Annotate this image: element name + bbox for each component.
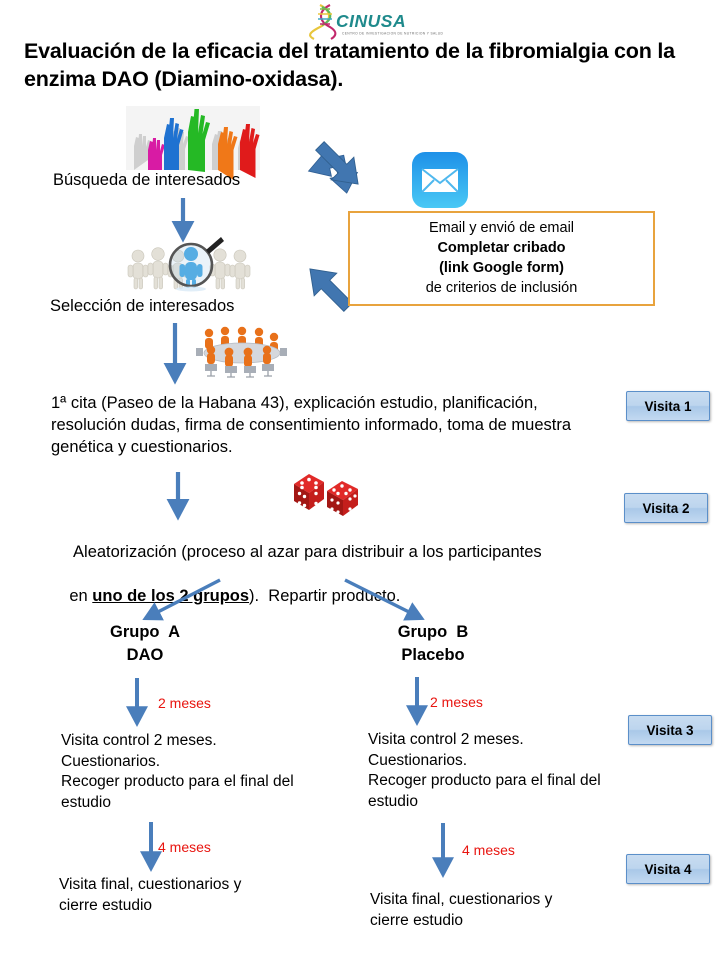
aleatorizacion-emphasis: uno de los 2 grupos <box>92 587 249 605</box>
cinusa-logo: CINUSA CENTRO DE INVESTIGACION DE NUTRIC… <box>306 2 414 40</box>
branch-b-interval-1: 2 meses <box>430 693 483 712</box>
badge-visita-1[interactable]: Visita 1 <box>626 391 710 421</box>
branch-a-interval-1: 2 meses <box>158 694 211 713</box>
email-box-line-3: (link Google form) <box>439 259 564 278</box>
logo-tagline: CENTRO DE INVESTIGACION DE NUTRICION Y S… <box>342 32 443 36</box>
meeting-table-image <box>196 326 288 378</box>
branch-b-final-text: Visita final, cuestionarios y cierre est… <box>370 890 650 931</box>
red-dice-image <box>289 470 369 518</box>
badge-visita-2[interactable]: Visita 2 <box>624 493 708 523</box>
badge-visita-3[interactable]: Visita 3 <box>628 715 712 745</box>
branch-a-final-text: Visita final, cuestionarios y cierre est… <box>59 875 349 916</box>
badge-visita-4[interactable]: Visita 4 <box>626 854 710 884</box>
raised-hands-image <box>126 106 260 170</box>
branch-a-interval-2: 4 meses <box>158 838 211 857</box>
branch-b-interval-2: 4 meses <box>462 841 515 860</box>
step-label-seleccion: Selección de interesados <box>50 296 234 318</box>
page-title: Evaluación de la eficacia del tratamient… <box>24 38 704 94</box>
email-box-line-4: de criterios de inclusión <box>426 279 578 298</box>
branch-a-visit-text: Visita control 2 meses. Cuestionarios. R… <box>61 731 351 813</box>
branch-b-visit-text: Visita control 2 meses. Cuestionarios. R… <box>368 730 648 812</box>
aleatorizacion-line-2-post: ). Repartir producto. <box>249 587 400 605</box>
chevron-arrow-to-email <box>305 135 369 200</box>
step-text-primera-cita: 1ª cita (Paseo de la Habana 43), explica… <box>51 393 611 459</box>
flowchart-page: CINUSA CENTRO DE INVESTIGACION DE NUTRIC… <box>0 0 720 960</box>
email-callout-box: Email y envió de email Completar cribado… <box>348 211 655 306</box>
aleatorizacion-line-1: Aleatorización (proceso al azar para dis… <box>69 543 541 561</box>
mail-app-icon <box>412 152 468 208</box>
group-a-title: Grupo A <box>80 622 210 644</box>
group-a-subtitle: DAO <box>80 645 210 667</box>
group-b-subtitle: Placebo <box>363 645 503 667</box>
step-text-aleatorizacion: Aleatorización (proceso al azar para dis… <box>51 520 631 630</box>
crowd-magnifier-image <box>127 237 255 291</box>
group-b-title: Grupo B <box>363 622 503 644</box>
step-label-busqueda: Búsqueda de interesados <box>53 170 240 192</box>
aleatorizacion-line-2-pre: en <box>69 587 92 605</box>
email-box-line-1: Email y envió de email <box>429 219 574 238</box>
email-box-line-2: Completar cribado <box>437 239 565 258</box>
svg-text:CINUSA: CINUSA <box>336 11 406 31</box>
